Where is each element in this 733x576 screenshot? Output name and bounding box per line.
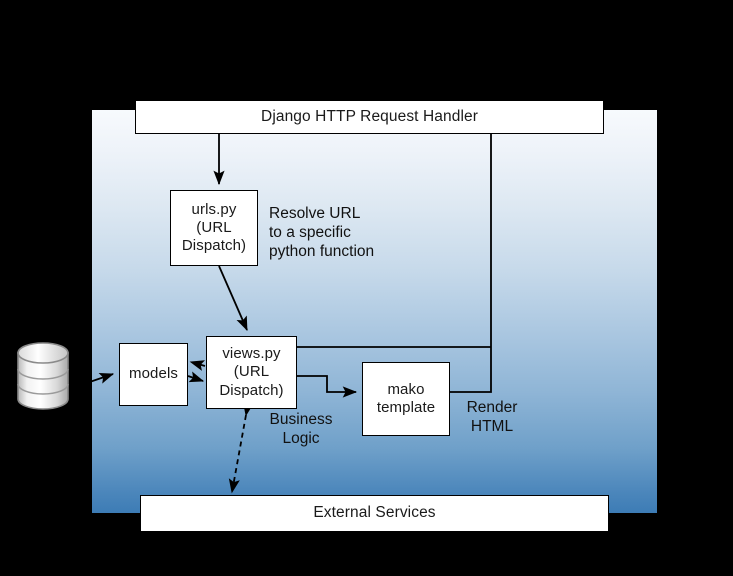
node-models[interactable]: models [119,343,188,406]
node-views-py[interactable]: views.py (URL Dispatch) [206,336,297,409]
database-cylinder-icon [14,341,72,411]
annotation-business-logic: Business Logic [262,411,340,449]
node-label: views.py (URL Dispatch) [207,345,296,400]
node-label: mako template [363,381,449,418]
node-mako-template[interactable]: mako template [362,362,450,436]
node-django-http-request-handler[interactable]: Django HTTP Request Handler [135,100,604,134]
diagram-canvas: Django HTTP Request Handler urls.py (URL… [0,0,733,576]
node-label: urls.py (URL Dispatch) [171,201,257,256]
node-urls-py[interactable]: urls.py (URL Dispatch) [170,190,258,266]
node-external-services[interactable]: External Services [140,495,609,532]
node-label: Django HTTP Request Handler [136,108,603,127]
annotation-render-html: Render HTML [461,399,523,437]
node-label: models [120,365,187,383]
annotation-resolve-url: Resolve URL to a specific python functio… [269,205,374,262]
gradient-panel [92,110,657,513]
node-label: External Services [141,504,608,523]
